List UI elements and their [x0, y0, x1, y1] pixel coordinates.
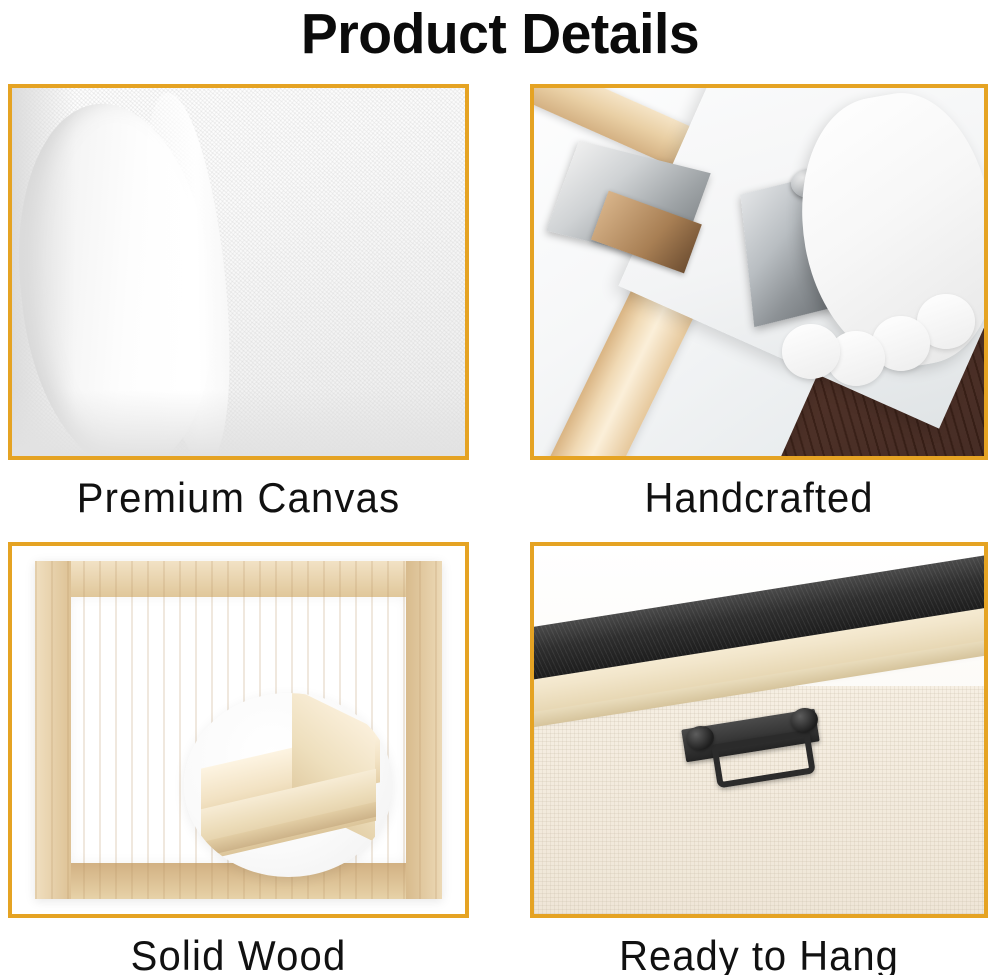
canvas-bottom-shadow	[12, 390, 465, 456]
solid-wood-frame-illustration	[12, 546, 465, 914]
panel-photo-premium-canvas	[8, 84, 469, 460]
page-title: Product Details	[15, 2, 985, 68]
handcrafted-stapling-illustration	[534, 88, 984, 456]
ready-to-hang-illustration	[534, 546, 984, 914]
canvas-roll-illustration	[12, 88, 465, 456]
panel-caption-solid-wood: Solid Wood	[8, 918, 469, 975]
feature-panel-premium-canvas: Premium Canvas	[8, 84, 469, 539]
feature-panel-handcrafted: Handcrafted	[530, 84, 988, 539]
panel-caption-premium-canvas: Premium Canvas	[8, 460, 469, 522]
panel-caption-handcrafted: Handcrafted	[530, 460, 988, 522]
panel-caption-ready-to-hang: Ready to Hang	[530, 918, 988, 975]
frame-bevel-bottom	[35, 863, 443, 899]
finger-4	[782, 324, 841, 379]
product-details-infographic: Product Details Premium Canvas	[0, 0, 1000, 975]
feature-panel-ready-to-hang: Ready to Hang	[530, 542, 988, 942]
panel-photo-ready-to-hang	[530, 542, 988, 918]
frame-bevel-left	[35, 561, 71, 900]
panel-photo-handcrafted	[530, 84, 988, 460]
corner-joint-inset	[184, 693, 392, 877]
panel-photo-solid-wood	[8, 542, 469, 918]
frame-bevel-top	[35, 561, 443, 597]
feature-panel-grid: Premium Canvas	[0, 84, 1000, 944]
feature-panel-solid-wood: Solid Wood	[8, 542, 469, 942]
frame-bevel-right	[406, 561, 442, 900]
